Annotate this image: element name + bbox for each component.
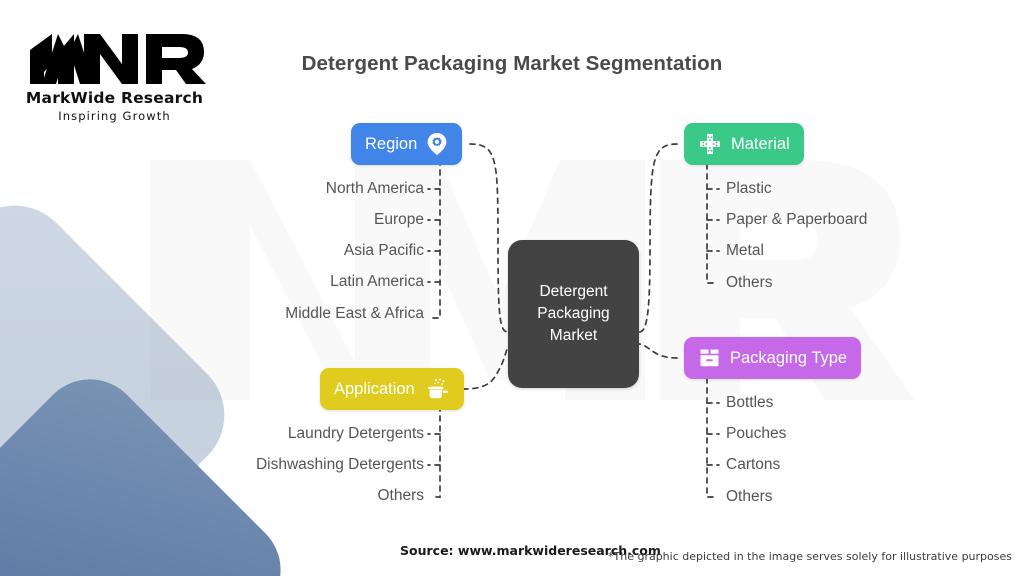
center-node-line3: Market	[537, 325, 609, 347]
link-application-center	[463, 346, 508, 389]
leaf-item: Plastic	[726, 180, 772, 198]
infographic-canvas: MarkWide Research Inspiring Growth Deter…	[0, 0, 1024, 576]
leaf-item: Others	[726, 488, 773, 506]
leaf-item: Asia Pacific	[344, 242, 424, 260]
leaf-item: North America	[326, 180, 424, 198]
branch-badge-application[interactable]: Application	[320, 368, 464, 410]
leaf-item: Pouches	[726, 425, 786, 443]
leaf-item: Cartons	[726, 456, 780, 474]
branch-label-application: Application	[334, 380, 415, 399]
map-pin-gear-icon	[426, 132, 448, 156]
leaf-item: Laundry Detergents	[288, 425, 424, 443]
leaf-item: Metal	[726, 242, 764, 260]
branch-label-region: Region	[365, 135, 417, 154]
branch-badge-material[interactable]: Material	[684, 123, 804, 165]
link-region-center	[470, 144, 508, 332]
leaf-item: Others	[377, 487, 424, 505]
leaf-item: Others	[726, 274, 773, 292]
leaf-item: Middle East & Africa	[285, 305, 424, 323]
center-node: Detergent Packaging Market	[508, 240, 639, 388]
branch-badge-packaging[interactable]: Packaging Type	[684, 337, 861, 379]
spine-application	[432, 396, 440, 497]
branch-label-material: Material	[731, 135, 790, 154]
center-node-line1: Detergent	[537, 281, 609, 303]
spine-packaging	[707, 378, 716, 497]
leaf-item: Bottles	[726, 394, 773, 412]
leaf-item: Paper & Paperboard	[726, 211, 867, 229]
leaf-item: Dishwashing Detergents	[256, 456, 424, 474]
molecule-cross-icon	[698, 132, 722, 156]
center-node-line2: Packaging	[537, 303, 609, 325]
link-material-center	[639, 144, 677, 332]
spine-region	[432, 150, 440, 318]
package-box-icon	[698, 346, 721, 370]
leaf-item: Latin America	[330, 273, 424, 291]
branch-badge-region[interactable]: Region	[351, 123, 462, 165]
spine-material	[707, 164, 716, 283]
leaf-item: Europe	[374, 211, 424, 229]
disclaimer-label: *The graphic depicted in the image serve…	[608, 550, 1012, 563]
branch-label-packaging: Packaging Type	[730, 349, 847, 368]
link-packaging-center	[639, 344, 677, 358]
pot-bubbles-icon	[424, 377, 450, 401]
